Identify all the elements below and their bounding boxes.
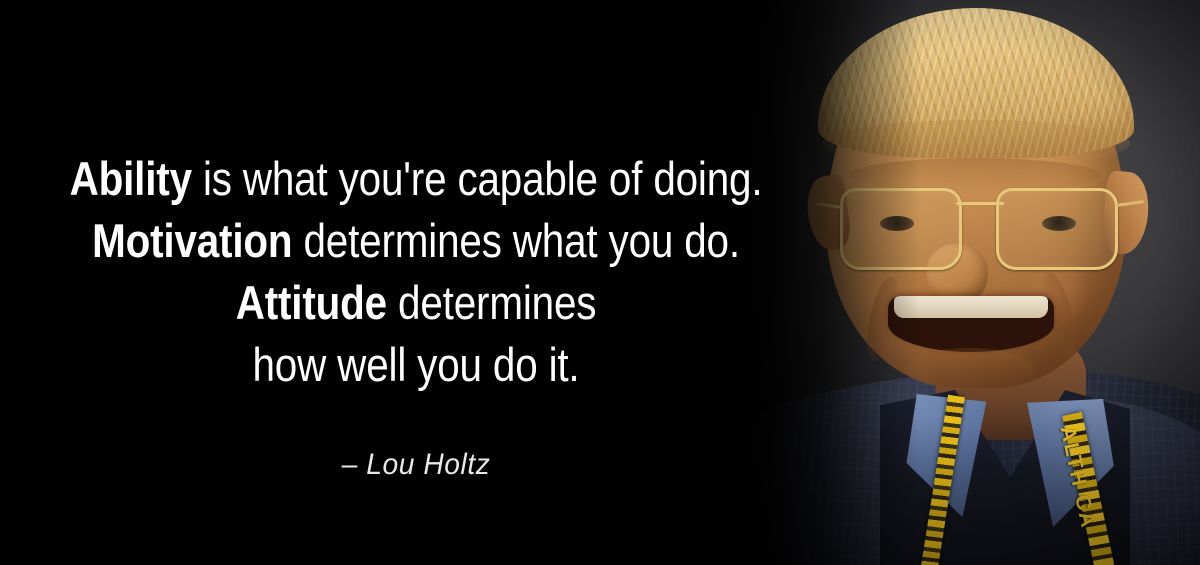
quote-text: Ability is what you're capable of doing.… — [0, 148, 832, 396]
quote-line-2: Motivation determines what you do. — [58, 210, 774, 272]
quote-line-4: how well you do it. — [58, 334, 774, 396]
quote-line-1: Ability is what you're capable of doing. — [58, 148, 774, 210]
quote-keyword-motivation: Motivation — [92, 214, 292, 267]
quote-keyword-ability: Ability — [70, 152, 192, 205]
quote-card: ALTH CA — [0, 0, 1200, 565]
quote-line-2-rest: determines what you do. — [292, 214, 739, 267]
quote-line-1-rest: is what you're capable of doing. — [192, 152, 763, 205]
quote-line-3: Attitude determines — [58, 272, 774, 334]
quote-line-4-rest: how well you do it. — [252, 338, 579, 391]
quote-attribution: – Lou Holtz — [25, 448, 807, 482]
quote-keyword-attitude: Attitude — [236, 276, 387, 329]
quote-line-3-rest: determines — [387, 276, 596, 329]
